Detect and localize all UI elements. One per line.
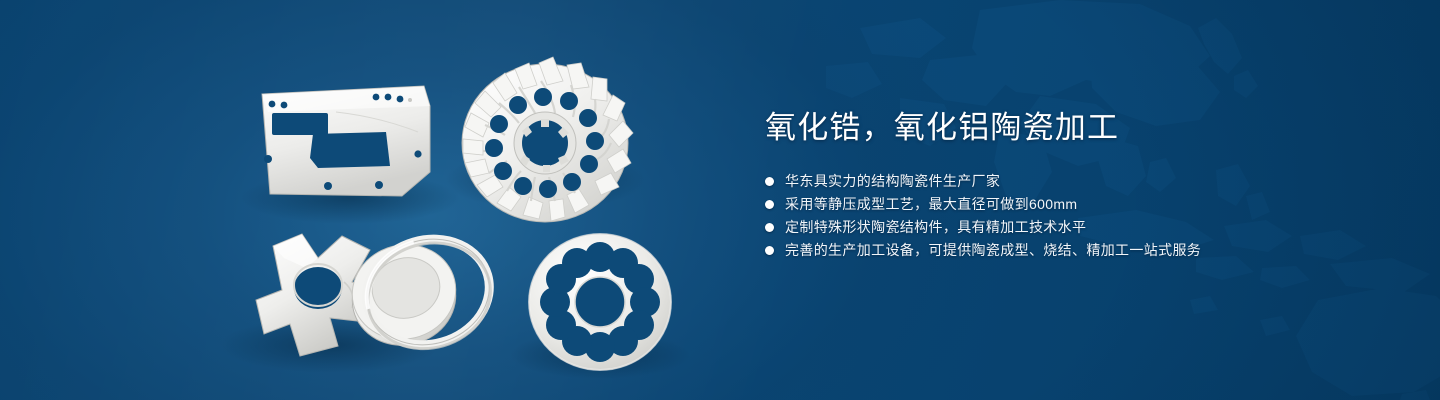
bullet-dot-icon — [765, 246, 774, 255]
feature-text: 采用等静压成型工艺，最大直径可做到600mm — [785, 193, 1077, 216]
bullet-dot-icon — [765, 177, 774, 186]
list-item: 定制特殊形状陶瓷结构件，具有精加工技术水平 — [765, 216, 1395, 239]
feature-list: 华东具实力的结构陶瓷件生产厂家 采用等静压成型工艺，最大直径可做到600mm 定… — [765, 170, 1395, 262]
list-item: 采用等静压成型工艺，最大直径可做到600mm — [765, 193, 1395, 216]
banner-copy: 氧化锆，氧化铝陶瓷加工 华东具实力的结构陶瓷件生产厂家 采用等静压成型工艺，最大… — [765, 108, 1395, 262]
banner-headline: 氧化锆，氧化铝陶瓷加工 — [765, 108, 1395, 148]
list-item: 华东具实力的结构陶瓷件生产厂家 — [765, 170, 1395, 193]
promo-banner: 氧化锆，氧化铝陶瓷加工 华东具实力的结构陶瓷件生产厂家 采用等静压成型工艺，最大… — [0, 0, 1440, 400]
ceramic-perforated-disc — [529, 234, 671, 370]
ceramic-products-image — [0, 0, 760, 400]
feature-text: 定制特殊形状陶瓷结构件，具有精加工技术水平 — [785, 216, 1086, 239]
list-item: 完善的生产加工设备，可提供陶瓷成型、烧结、精加工一站式服务 — [765, 239, 1395, 262]
bullet-dot-icon — [765, 200, 774, 209]
bullet-dot-icon — [765, 223, 774, 232]
ceramic-plate — [262, 86, 430, 196]
feature-text: 华东具实力的结构陶瓷件生产厂家 — [785, 170, 1000, 193]
feature-text: 完善的生产加工设备，可提供陶瓷成型、烧结、精加工一站式服务 — [785, 239, 1201, 262]
